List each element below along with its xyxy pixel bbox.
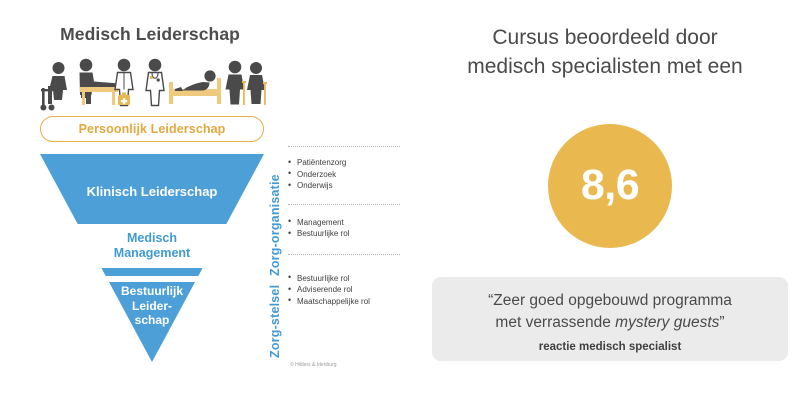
bullet-separator bbox=[288, 204, 400, 205]
testimonial-quote: “Zeer goed opgebouwd programma met verra… bbox=[446, 290, 774, 334]
list-item: Bestuurlijke rol bbox=[288, 228, 400, 240]
leadership-funnel: Klinisch Leiderschap Medisch Management … bbox=[36, 152, 268, 364]
page-title: Medisch Leiderschap bbox=[0, 24, 300, 45]
testimonial-card: “Zeer goed opgebouwd programma met verra… bbox=[432, 277, 788, 361]
funnel-white-gap bbox=[36, 276, 268, 282]
list-item: Adviserende rol bbox=[288, 284, 400, 296]
vertical-label-care-organisation: Zorg-organisatie bbox=[268, 152, 282, 276]
score-value: 8,6 bbox=[581, 164, 639, 207]
testimonial-quote-closing: ” bbox=[719, 314, 724, 331]
bullet-separator bbox=[288, 146, 400, 147]
patient-in-bed-icon bbox=[169, 70, 221, 104]
testimonial-quote-lead: met verrassende bbox=[495, 314, 615, 331]
vertical-label-care-system: Zorg-stelsel bbox=[268, 280, 282, 358]
rating-headline-line1: Cursus beoordeeld door bbox=[420, 24, 790, 53]
personal-leadership-pill: Persoonlijk Leiderschap bbox=[40, 116, 264, 142]
infographic-page: Medisch Leiderschap bbox=[0, 0, 800, 400]
elderly-with-walker-icon bbox=[40, 62, 67, 111]
testimonial-attribution: reactie medisch specialist bbox=[446, 341, 774, 353]
bullet-group-care-system-governance: Bestuurlijke rol Adviserende rol Maatsch… bbox=[288, 273, 400, 308]
elderly-man-with-cane-icon bbox=[226, 61, 247, 105]
healthcare-pictogram-row bbox=[38, 56, 268, 114]
copyright-notice: © Hilders & Idenburg bbox=[290, 362, 336, 368]
testimonial-quote-emphasis: mystery guests bbox=[615, 314, 719, 331]
bullet-group-care-organisation-management: Management Bestuurlijke rol bbox=[288, 217, 400, 240]
rating-headline: Cursus beoordeeld door medisch specialis… bbox=[420, 24, 790, 82]
list-item: Management bbox=[288, 217, 400, 229]
testimonial-quote-line2: met verrassende mystery guests” bbox=[446, 312, 774, 334]
doctor-with-stethoscope-icon bbox=[146, 59, 164, 106]
list-item: Bestuurlijke rol bbox=[288, 273, 400, 285]
patient-on-exam-table-icon bbox=[80, 59, 119, 105]
medical-leadership-diagram-panel: Medisch Leiderschap bbox=[0, 0, 410, 400]
bullet-column: Patiëntenzorg Onderzoek Onderwijs Manage… bbox=[288, 146, 400, 307]
list-item: Onderzoek bbox=[288, 169, 400, 181]
rating-panel: Cursus beoordeeld door medisch specialis… bbox=[410, 0, 800, 400]
rating-headline-line2: medisch specialisten met een bbox=[420, 53, 790, 82]
bullet-separator bbox=[288, 254, 400, 255]
score-badge: 8,6 bbox=[548, 124, 672, 248]
personal-leadership-label: Persoonlijk Leiderschap bbox=[79, 122, 226, 136]
list-item: Maatschappelijke rol bbox=[288, 296, 400, 308]
doctor-with-medical-bag-icon bbox=[115, 59, 133, 106]
list-item: Onderwijs bbox=[288, 180, 400, 192]
list-item: Patiëntenzorg bbox=[288, 157, 400, 169]
funnel-white-band bbox=[36, 224, 268, 268]
testimonial-quote-line1: “Zeer goed opgebouwd programma bbox=[446, 290, 774, 312]
elderly-woman-with-cane-icon bbox=[247, 62, 267, 105]
bullet-group-care-organisation-clinical: Patiëntenzorg Onderzoek Onderwijs bbox=[288, 157, 400, 192]
